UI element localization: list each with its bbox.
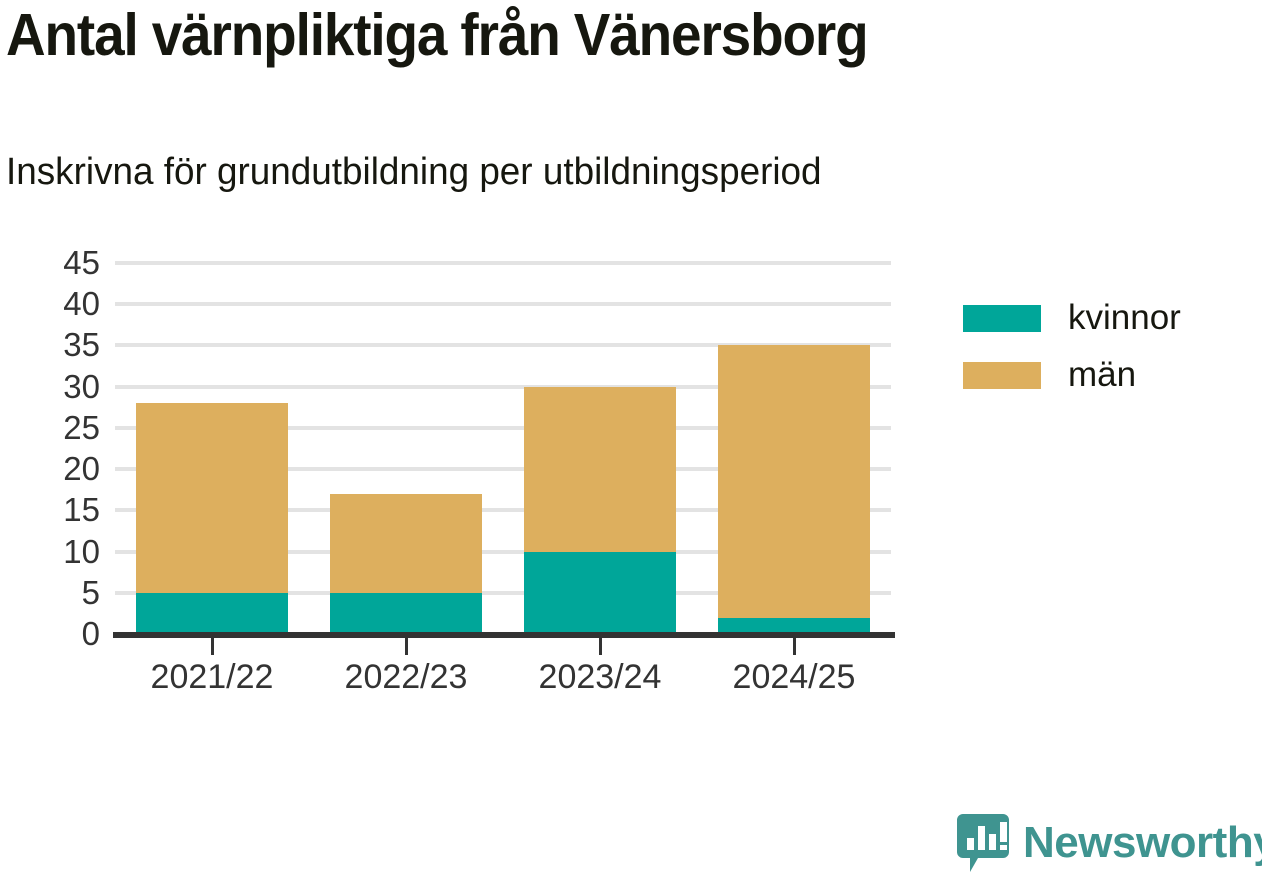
bar-segment[interactable] [524, 387, 676, 552]
chart-legend: kvinnormän [963, 296, 1253, 410]
y-tick-label: 0 [10, 617, 100, 650]
x-tick-mark [405, 638, 408, 655]
chart-plot-area: 051015202530354045 2021/222022/232023/24… [0, 0, 1262, 879]
bar-segment[interactable] [330, 494, 482, 593]
x-tick-label: 2024/25 [694, 660, 894, 694]
legend-item[interactable]: män [963, 353, 1253, 410]
x-axis-line [113, 632, 895, 638]
y-tick-label: 40 [10, 287, 100, 320]
bar-segment[interactable] [330, 593, 482, 634]
legend-swatch [963, 362, 1041, 389]
legend-item[interactable]: kvinnor [963, 296, 1253, 353]
legend-label: kvinnor [1068, 296, 1181, 340]
x-tick-mark [793, 638, 796, 655]
newsworthy-logo: Newsworthy [955, 812, 1262, 874]
newsworthy-wordmark: Newsworthy [1023, 821, 1262, 865]
legend-swatch [963, 305, 1041, 332]
x-tick-label: 2022/23 [306, 660, 506, 694]
y-tick-label: 25 [10, 411, 100, 444]
gridline [115, 302, 891, 306]
bar-segment[interactable] [136, 593, 288, 634]
y-tick-label: 35 [10, 328, 100, 361]
y-tick-label: 10 [10, 535, 100, 568]
y-tick-label: 5 [10, 576, 100, 609]
x-tick-mark [599, 638, 602, 655]
y-tick-label: 20 [10, 452, 100, 485]
gridline [115, 261, 891, 265]
bar-segment[interactable] [136, 403, 288, 593]
y-tick-label: 45 [10, 246, 100, 279]
chart-bubble-icon [955, 812, 1011, 874]
bar-segment[interactable] [718, 345, 870, 617]
y-tick-label: 30 [10, 370, 100, 403]
y-tick-label: 15 [10, 493, 100, 526]
bar-segment[interactable] [524, 552, 676, 634]
x-tick-label: 2021/22 [112, 660, 312, 694]
legend-label: män [1068, 353, 1136, 397]
x-tick-mark [211, 638, 214, 655]
x-tick-label: 2023/24 [500, 660, 700, 694]
